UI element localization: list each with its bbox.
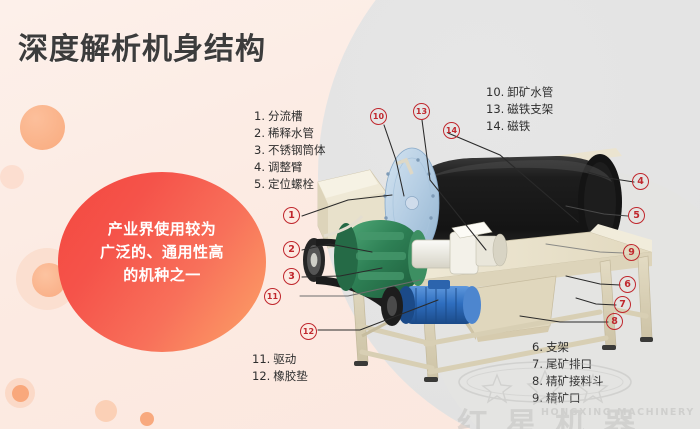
legend-item: 12.橡胶垫 — [252, 368, 308, 385]
legend-item-number: 13. — [486, 101, 504, 118]
legend-item-label: 稀释水管 — [268, 126, 314, 140]
legend-item-number: 4. — [250, 159, 265, 176]
legend-item-label: 磁铁支架 — [507, 102, 553, 116]
legend-item: 14.磁铁 — [486, 118, 553, 135]
legend-list-top-left: 1.分流槽 2.稀释水管 3.不锈钢筒体 4.调整臂 5.定位螺栓 — [250, 108, 326, 193]
legend-item: 1.分流槽 — [250, 108, 326, 125]
callout-11[interactable]: 11 — [264, 288, 281, 305]
callout-12[interactable]: 12 — [300, 323, 317, 340]
legend-item-number: 1. — [250, 108, 265, 125]
legend-item-label: 调整臂 — [268, 160, 303, 174]
callout-1[interactable]: 1 — [283, 207, 300, 224]
legend-item-number: 3. — [250, 142, 265, 159]
slide-canvas: 深度解析机身结构 产业界使用较为 广泛的、通用性高 的机种之一 — [0, 0, 700, 429]
legend-item: 4.调整臂 — [250, 159, 326, 176]
legend-item-label: 磁铁 — [507, 119, 530, 133]
legend-item: 6.支架 — [528, 339, 604, 356]
legend-item: 3.不锈钢筒体 — [250, 142, 326, 159]
legend-item: 5.定位螺栓 — [250, 176, 326, 193]
legend-item-label: 分流槽 — [268, 109, 303, 123]
legend-item-number: 5. — [250, 176, 265, 193]
legend-item: 11.驱动 — [252, 351, 308, 368]
callout-10[interactable]: 10 — [370, 108, 387, 125]
legend-item-number: 14. — [486, 118, 504, 135]
legend-item-label: 橡胶垫 — [273, 369, 308, 383]
watermark-text-en: HONGXING MACHINERY — [541, 407, 695, 418]
legend-item-label: 卸矿水管 — [507, 85, 553, 99]
callout-6[interactable]: 6 — [619, 276, 636, 293]
callout-14[interactable]: 14 — [443, 122, 460, 139]
legend-item: 13.磁铁支架 — [486, 101, 553, 118]
legend-item-number: 11. — [252, 351, 270, 368]
legend-item-label: 定位螺栓 — [268, 177, 314, 191]
legend-item-label: 驱动 — [273, 352, 296, 366]
legend-item-number: 6. — [528, 339, 543, 356]
callout-2[interactable]: 2 — [283, 241, 300, 258]
legend-item: 2.稀释水管 — [250, 125, 326, 142]
legend-item: 10.卸矿水管 — [486, 84, 553, 101]
callout-4[interactable]: 4 — [632, 173, 649, 190]
callout-8[interactable]: 8 — [606, 313, 623, 330]
legend-list-top-right: 10.卸矿水管 13.磁铁支架 14.磁铁 — [486, 84, 553, 135]
callout-5[interactable]: 5 — [628, 207, 645, 224]
callout-9[interactable]: 9 — [623, 244, 640, 261]
legend-list-bottom-left: 11.驱动 12.橡胶垫 — [252, 351, 308, 385]
legend-item-number: 12. — [252, 368, 270, 385]
legend-item-label: 支架 — [546, 340, 569, 354]
watermark: 红星机器 HONGXING MACHINERY — [455, 355, 700, 425]
legend-item-number: 10. — [486, 84, 504, 101]
callout-7[interactable]: 7 — [614, 296, 631, 313]
legend-item-label: 不锈钢筒体 — [268, 143, 326, 157]
callout-3[interactable]: 3 — [283, 268, 300, 285]
callout-13[interactable]: 13 — [413, 103, 430, 120]
legend-item-number: 2. — [250, 125, 265, 142]
